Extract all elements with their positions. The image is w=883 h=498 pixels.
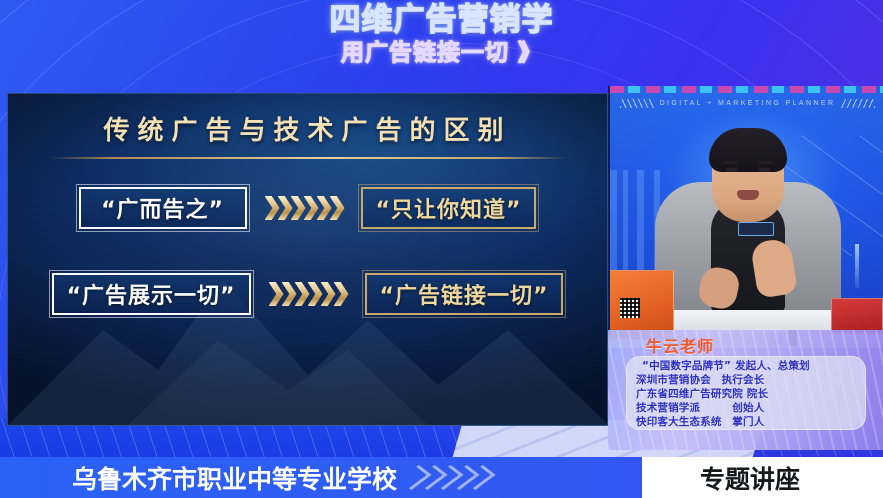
credential-line: “中国数字品牌节” 发起人、总策划 [636, 359, 866, 373]
desk-stand [855, 244, 859, 288]
tech-ad-label-1: “只让你知道” [361, 187, 537, 229]
presenter-lapel-badge [738, 222, 774, 236]
program-title-block: 四维广告营销学 用广告链接一切 》 [0, 2, 883, 67]
hud-hatch-right-icon [841, 99, 875, 108]
presenter-brow-right [758, 161, 773, 164]
comparison-row: “广告展示一切” “广告链接一切” [8, 268, 607, 320]
bottom-banner-school-section: 乌鲁木齐市职业中等专业学校 [0, 457, 642, 498]
credential-line: 广东省四维广告研究院 院长 [636, 387, 866, 401]
video-hud-banner: DIGITAL + MARKETING PLANNER [610, 94, 883, 112]
slide-title-underline [50, 157, 567, 159]
program-title: 四维广告营销学 [0, 2, 883, 38]
qr-code-icon [620, 298, 640, 318]
video-hud-text: DIGITAL + MARKETING PLANNER [660, 100, 836, 107]
chevrons-right-icon [407, 465, 486, 490]
chevrons-right-icon [265, 195, 343, 221]
comparison-row: “广而告之” “只让你知道” [8, 182, 607, 234]
presenter-hair [709, 128, 787, 172]
chevrons-right-icon [269, 281, 347, 307]
school-name: 乌鲁木齐市职业中等专业学校 [72, 460, 397, 496]
presentation-slide: 传统广告与技术广告的区别 “广而告之” “只让你知道” “广告展示一切” “广告… [7, 93, 608, 426]
slide-comparison-rows: “广而告之” “只让你知道” “广告展示一切” “广告链接一切” [8, 182, 607, 354]
program-header: 四维广告营销学 用广告链接一切 》 [0, 0, 883, 93]
slide-title: 传统广告与技术广告的区别 [8, 110, 607, 147]
presenter-eye-left [726, 168, 737, 172]
hud-hatch-left-icon [620, 99, 654, 108]
presenter [610, 118, 883, 348]
topic-label: 专题讲座 [700, 460, 800, 496]
credential-line: 技术营销学派 创始人 [636, 401, 866, 415]
traditional-ad-label-2: “广告展示一切” [52, 273, 251, 315]
presenter-brow-left [723, 161, 738, 164]
speaker-credentials-card: “中国数字品牌节” 发起人、总策划 深圳市营销协会 执行会长 广东省四维广告研究… [626, 356, 866, 430]
bottom-banner-topic-section: 专题讲座 [642, 457, 883, 498]
traditional-ad-label-1: “广而告之” [79, 187, 247, 229]
presenter-eye-right [759, 168, 770, 172]
speaker-name: 牛云老师 [646, 333, 714, 357]
broadcast-screen: 四维广告营销学 用广告链接一切 》 传统广告与技术广告的区别 “广而告之” “只… [0, 0, 883, 498]
video-color-strip [610, 86, 883, 93]
bottom-banner: 乌鲁木齐市职业中等专业学校 专题讲座 [0, 457, 883, 498]
presenter-mouth [737, 190, 759, 200]
speaker-video-feed[interactable]: DIGITAL + MARKETING PLANNER [608, 86, 883, 348]
credential-line: 快印客大生态系统 掌门人 [636, 415, 866, 429]
speaker-lower-third: 牛云老师 “中国数字品牌节” 发起人、总策划 深圳市营销协会 执行会长 广东省四… [608, 330, 883, 450]
credential-line: 深圳市营销协会 执行会长 [636, 373, 866, 387]
product-red-item [831, 298, 883, 334]
program-subtitle: 用广告链接一切 》 [0, 39, 883, 67]
tech-ad-label-2: “广告链接一切” [365, 273, 564, 315]
